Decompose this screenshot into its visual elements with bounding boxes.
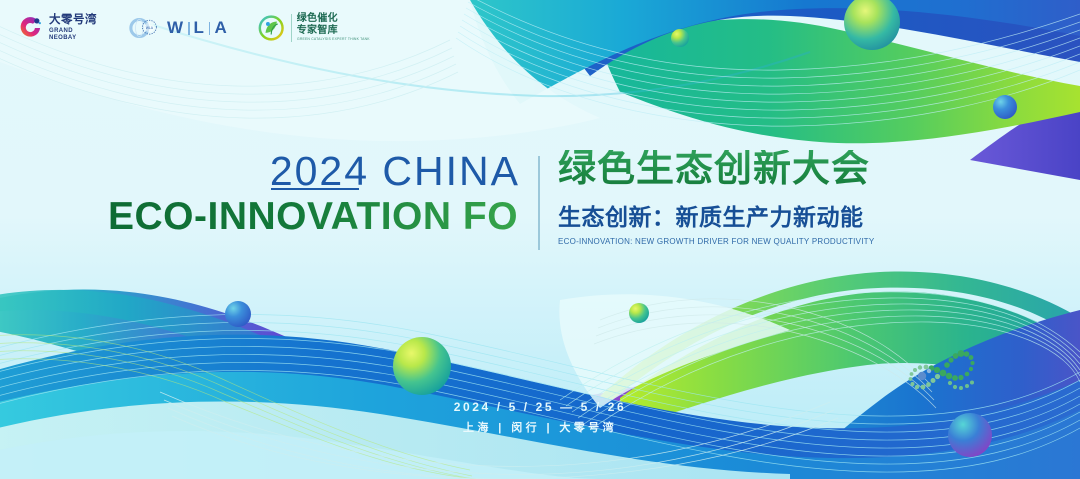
event-footer: 2024 / 5 / 25 — 5 / 26 上海 | 闵行 | 大零号湾 [0,400,1080,435]
sphere-center-large [393,337,451,395]
globe-laurel-icon: WLA [127,13,161,43]
title-cn-sub: 生态创新：新质生产力新动能 [558,198,874,232]
logo-wla[interactable]: WLA WLA [127,13,228,43]
title-year: 2024 [270,148,369,194]
logo-grand-neobay-en2: NEOBAY [49,35,97,41]
title-en-line1: 2024 CHINA [108,150,520,193]
title-en-sub: ECO-INNOVATION: NEW GROWTH DRIVER FOR NE… [558,237,874,246]
logo-wla-l: L [194,18,205,38]
logo-grand-neobay-cn: 大零号湾 [49,15,97,27]
swirl-ring-icon [18,15,44,41]
svg-text:WLA: WLA [146,26,154,30]
leaf-circle-icon [258,15,286,41]
logo-grand-neobay-en1: GRAND [49,28,97,34]
title-en-line2: ECO-INNOVATION FORUM [108,197,520,238]
sponsor-logo-bar: 大零号湾 GRAND NEOBAY WLA WLA [0,0,1080,56]
sphere-green-small [629,303,649,323]
logo-green-catalysis-en: GREEN CATALYSIS EXPERT THINK TANK [297,38,370,41]
logo-wla-a: A [214,18,227,38]
event-poster: 大零号湾 GRAND NEOBAY WLA WLA [0,0,1080,479]
sphere-mid-right [993,95,1017,119]
title-divider [538,156,540,250]
title-chinese: 绿色生态创新大会 生态创新：新质生产力新动能 ECO-INNOVATION: N… [558,150,874,246]
logo-wla-w: W [167,18,184,38]
sphere-mid-left [225,301,251,327]
logo-wla-text: WLA [167,18,228,38]
title-cn-main: 绿色生态创新大会 [558,150,874,190]
logo-green-catalysis-cn1: 绿色催化 [297,14,374,24]
logo-wla-bar2 [209,22,211,35]
logo-green-catalysis[interactable]: 绿色催化 专家智库 GREEN CATALYSIS EXPERT THINK T… [258,14,374,42]
event-date: 2024 / 5 / 25 — 5 / 26 [0,400,1080,414]
logo-grand-neobay[interactable]: 大零号湾 GRAND NEOBAY [18,15,97,42]
event-location: 上海 | 闵行 | 大零号湾 [0,419,1080,435]
logo-wla-bar1 [188,22,190,35]
title-en-country: CHINA [369,148,520,194]
infinity-dots-icon [893,342,993,404]
logo-green-catalysis-cn2: 专家智库 [297,26,374,36]
title-english: 2024 CHINA ECO-INNOVATION FORUM [108,150,520,238]
